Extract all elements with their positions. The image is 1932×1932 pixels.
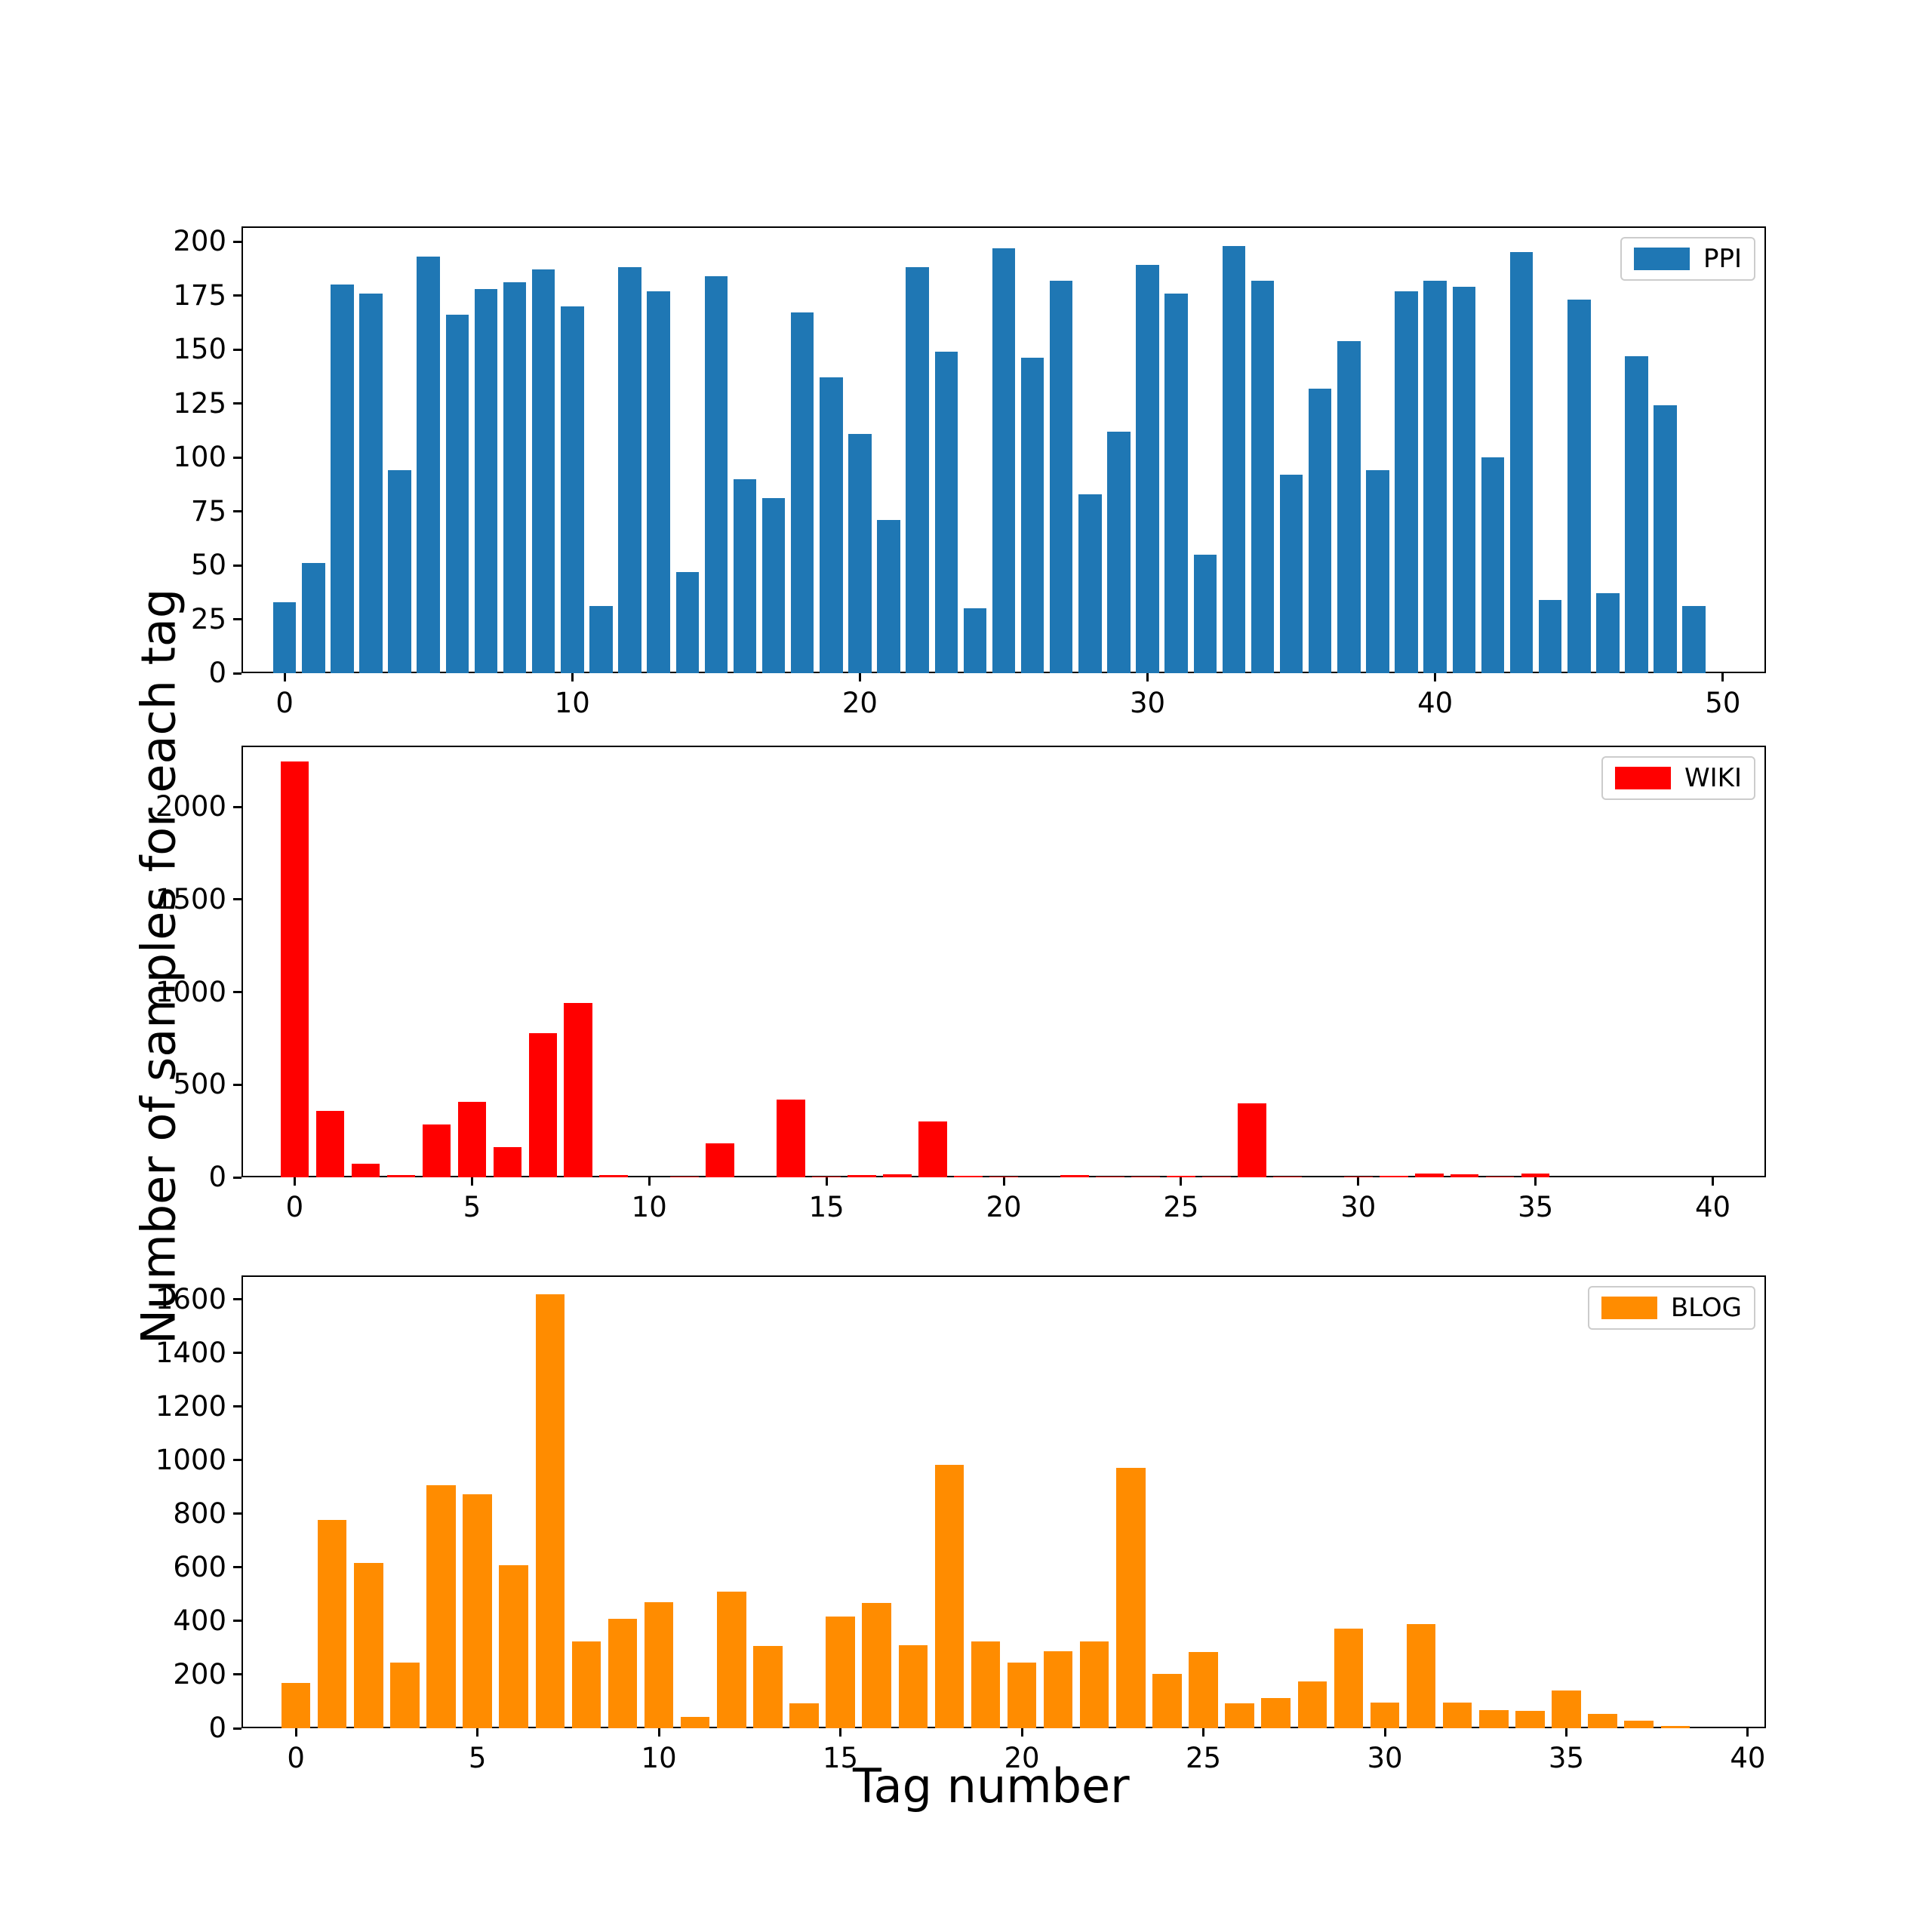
x-tick-line xyxy=(295,1728,297,1737)
legend-ppi[interactable]: PPI xyxy=(1620,237,1755,281)
x-tick-label: 10 xyxy=(614,1740,704,1777)
bar xyxy=(706,1143,734,1177)
y-tick-label: 1500 xyxy=(155,881,226,918)
panel-blog: 02004006008001000120014001600 0510152025… xyxy=(241,1275,1766,1728)
bar xyxy=(1060,1175,1089,1177)
y-tick-label: 1200 xyxy=(155,1389,226,1425)
bar xyxy=(935,352,958,673)
bar xyxy=(1552,1690,1580,1728)
y-tick-line xyxy=(233,1298,241,1300)
y-tick-label: 125 xyxy=(173,386,226,422)
bar xyxy=(1481,457,1504,673)
x-tick-label: 0 xyxy=(249,1189,340,1226)
x-tick-line xyxy=(1202,1728,1204,1737)
bar xyxy=(906,267,928,673)
bar xyxy=(1080,1641,1109,1728)
bar xyxy=(734,479,756,673)
bar xyxy=(331,285,353,673)
bar xyxy=(281,761,309,1177)
bar xyxy=(499,1565,528,1728)
x-tick-label: 0 xyxy=(239,685,330,721)
figure-xlabel: Tag number xyxy=(853,1758,1130,1814)
bar xyxy=(717,1592,746,1728)
bar xyxy=(1044,1651,1072,1728)
bar xyxy=(417,257,439,673)
x-tick-label: 40 xyxy=(1390,685,1481,721)
bar xyxy=(273,602,296,673)
bar xyxy=(1050,281,1072,674)
figure-canvas: Number of samples for each tag 025507510… xyxy=(0,0,1932,1932)
bar xyxy=(1515,1711,1544,1728)
bar xyxy=(1116,1468,1145,1728)
bar xyxy=(1021,358,1044,673)
x-tick-label: 30 xyxy=(1340,1740,1430,1777)
y-tick-line xyxy=(233,1620,241,1622)
bar xyxy=(645,1602,673,1728)
bar xyxy=(1202,1177,1231,1177)
y-tick-label: 200 xyxy=(173,223,226,260)
bar xyxy=(423,1124,451,1177)
y-tick-label: 200 xyxy=(173,1657,226,1693)
x-tick-line xyxy=(648,1177,651,1186)
bar xyxy=(1136,265,1158,673)
plot-area-blog xyxy=(241,1275,1766,1728)
bar xyxy=(964,608,986,673)
bar xyxy=(992,248,1015,673)
y-tick-line xyxy=(233,294,241,297)
bar xyxy=(618,267,641,673)
y-tick-label: 1400 xyxy=(155,1335,226,1371)
bar xyxy=(826,1617,854,1728)
x-tick-label: 40 xyxy=(1668,1189,1758,1226)
bar xyxy=(1152,1674,1181,1728)
x-tick-label: 25 xyxy=(1158,1740,1249,1777)
bar xyxy=(1107,432,1130,673)
bar xyxy=(359,294,382,673)
bar xyxy=(503,282,526,673)
bar xyxy=(1225,1703,1254,1728)
bar xyxy=(318,1520,346,1728)
bar xyxy=(1337,341,1360,673)
bar xyxy=(589,606,612,673)
y-tick-label: 500 xyxy=(173,1066,226,1103)
legend-blog[interactable]: BLOG xyxy=(1588,1286,1755,1330)
legend-swatch-ppi xyxy=(1634,248,1690,270)
legend-label-blog: BLOG xyxy=(1671,1295,1742,1321)
bar xyxy=(705,276,728,673)
bar xyxy=(1078,494,1101,673)
bar xyxy=(494,1147,522,1178)
x-tick-line xyxy=(471,1177,473,1186)
y-tick-line xyxy=(233,898,241,900)
bar xyxy=(681,1717,709,1728)
bar xyxy=(762,498,785,673)
bar xyxy=(789,1703,818,1728)
bar xyxy=(387,1175,416,1177)
y-tick-label: 175 xyxy=(173,278,226,314)
bar xyxy=(1395,291,1417,673)
bar xyxy=(1194,555,1217,673)
y-tick-line xyxy=(233,1727,241,1730)
y-tick-line xyxy=(233,1459,241,1461)
y-tick-label: 150 xyxy=(173,331,226,368)
panel-ppi: 0255075100125150175200 01020304050 PPI xyxy=(241,226,1766,673)
bar xyxy=(1131,1177,1160,1177)
x-tick-line xyxy=(1021,1728,1023,1737)
bar xyxy=(1380,1176,1408,1177)
bar xyxy=(1309,389,1331,674)
y-tick-label: 25 xyxy=(191,601,226,638)
bar xyxy=(316,1111,345,1177)
y-tick-line xyxy=(233,1084,241,1086)
bar xyxy=(1415,1174,1444,1177)
bar xyxy=(1273,1177,1302,1177)
bar xyxy=(954,1176,983,1177)
bar xyxy=(1407,1624,1435,1728)
y-tick-line xyxy=(233,510,241,512)
bar xyxy=(1486,1177,1515,1177)
y-tick-line xyxy=(233,241,241,243)
bar xyxy=(1596,593,1619,673)
legend-wiki[interactable]: WIKI xyxy=(1601,756,1755,800)
bar xyxy=(1280,475,1303,673)
x-tick-label: 20 xyxy=(814,685,905,721)
x-tick-line xyxy=(658,1728,660,1737)
x-tick-label: 15 xyxy=(781,1189,872,1226)
y-tick-label: 800 xyxy=(173,1496,226,1532)
x-tick-line xyxy=(1746,1728,1749,1737)
bar xyxy=(564,1003,592,1177)
bar xyxy=(753,1646,782,1728)
bar xyxy=(352,1164,380,1177)
bar xyxy=(1096,1177,1124,1177)
x-tick-line xyxy=(284,673,286,681)
bar xyxy=(572,1641,601,1728)
y-tick-line xyxy=(233,1566,241,1568)
bar xyxy=(918,1121,947,1177)
bar xyxy=(599,1175,628,1177)
bar xyxy=(475,289,497,673)
y-tick-label: 1000 xyxy=(155,974,226,1011)
y-tick-label: 100 xyxy=(173,439,226,475)
y-tick-label: 2000 xyxy=(155,789,226,825)
bar xyxy=(1510,252,1533,673)
x-tick-label: 30 xyxy=(1103,685,1193,721)
y-tick-line xyxy=(233,618,241,620)
x-tick-line xyxy=(1721,673,1724,681)
y-tick-line xyxy=(233,1352,241,1354)
y-tick-label: 0 xyxy=(208,655,226,691)
x-tick-line xyxy=(826,1177,828,1186)
bar xyxy=(1682,606,1705,673)
bar xyxy=(777,1100,805,1177)
bar xyxy=(1366,470,1389,673)
bar xyxy=(1479,1710,1508,1728)
bar xyxy=(1443,1703,1472,1728)
x-tick-line xyxy=(571,673,574,681)
bar xyxy=(1298,1681,1327,1728)
bar xyxy=(388,470,411,673)
x-tick-label: 40 xyxy=(1703,1740,1793,1777)
bar xyxy=(848,434,871,673)
x-tick-label: 20 xyxy=(958,1189,1049,1226)
y-tick-label: 0 xyxy=(208,1159,226,1195)
x-tick-line xyxy=(1712,1177,1714,1186)
y-tick-label: 1000 xyxy=(155,1442,226,1478)
x-tick-line xyxy=(1534,1177,1537,1186)
y-tick-label: 400 xyxy=(173,1603,226,1639)
x-tick-line xyxy=(1384,1728,1386,1737)
bar xyxy=(935,1465,964,1728)
x-tick-line xyxy=(1146,673,1149,681)
y-tick-line xyxy=(233,1405,241,1407)
y-tick-label: 0 xyxy=(208,1710,226,1746)
x-tick-label: 5 xyxy=(426,1189,517,1226)
bar xyxy=(536,1294,565,1728)
bar xyxy=(446,315,469,673)
y-tick-line xyxy=(233,349,241,351)
bar xyxy=(1423,281,1446,674)
bar xyxy=(354,1563,383,1728)
x-tick-line xyxy=(294,1177,296,1186)
bar xyxy=(1008,1663,1036,1728)
y-tick-line xyxy=(233,672,241,675)
bar xyxy=(458,1102,487,1177)
y-tick-line xyxy=(233,991,241,993)
y-tick-line xyxy=(233,565,241,567)
bar xyxy=(1451,1174,1479,1177)
plot-area-ppi xyxy=(241,226,1766,673)
bar xyxy=(1654,405,1676,673)
bar xyxy=(1567,300,1590,673)
y-tick-line xyxy=(233,457,241,459)
bar xyxy=(1539,600,1561,673)
bar xyxy=(1661,1726,1690,1728)
bar xyxy=(1238,1103,1266,1177)
x-tick-label: 25 xyxy=(1136,1189,1226,1226)
panel-wiki: 0500100015002000 0510152025303540 WIKI xyxy=(241,746,1766,1177)
bar xyxy=(1453,287,1475,673)
x-tick-line xyxy=(1565,1728,1567,1737)
bar xyxy=(302,563,325,673)
y-tick-line xyxy=(233,806,241,808)
x-tick-label: 50 xyxy=(1678,685,1768,721)
bar xyxy=(676,572,699,673)
bar xyxy=(463,1494,491,1728)
y-tick-label: 1600 xyxy=(155,1281,226,1318)
y-tick-line xyxy=(233,1512,241,1515)
x-tick-line xyxy=(839,1728,841,1737)
bar xyxy=(281,1683,310,1728)
x-tick-label: 30 xyxy=(1313,1189,1404,1226)
bar xyxy=(791,312,814,673)
bar xyxy=(1371,1703,1399,1728)
x-tick-label: 35 xyxy=(1521,1740,1611,1777)
y-tick-label: 75 xyxy=(191,494,226,530)
y-tick-line xyxy=(233,402,241,405)
y-tick-label: 600 xyxy=(173,1549,226,1586)
bar xyxy=(426,1485,455,1728)
bar xyxy=(1625,356,1647,673)
bar xyxy=(647,291,669,673)
bar xyxy=(390,1663,419,1728)
y-tick-label: 50 xyxy=(191,547,226,583)
legend-swatch-wiki xyxy=(1615,767,1671,789)
bar xyxy=(1189,1652,1217,1728)
y-tick-line xyxy=(233,1177,241,1179)
y-tick-line xyxy=(233,1673,241,1675)
bar xyxy=(1251,281,1274,674)
legend-label-ppi: PPI xyxy=(1703,246,1742,272)
bar xyxy=(862,1603,891,1728)
figure-ylabel: Number of samples for each tag xyxy=(131,588,186,1344)
bar xyxy=(1624,1721,1653,1728)
x-tick-line xyxy=(476,1728,478,1737)
plot-area-wiki xyxy=(241,746,1766,1177)
bar xyxy=(561,306,583,673)
x-tick-label: 35 xyxy=(1491,1189,1581,1226)
x-tick-label: 10 xyxy=(527,685,617,721)
x-tick-line xyxy=(1180,1177,1182,1186)
bar xyxy=(1334,1629,1363,1728)
bar xyxy=(1164,294,1187,673)
x-tick-line xyxy=(1003,1177,1005,1186)
x-tick-label: 0 xyxy=(251,1740,341,1777)
bar xyxy=(883,1174,912,1177)
bar xyxy=(848,1175,876,1177)
bar xyxy=(1223,246,1245,673)
bar xyxy=(877,520,900,673)
bar xyxy=(529,1033,558,1177)
x-tick-line xyxy=(1434,673,1436,681)
bar xyxy=(1588,1714,1617,1728)
bar xyxy=(532,269,555,673)
x-tick-label: 5 xyxy=(432,1740,523,1777)
bar xyxy=(1261,1698,1290,1728)
x-tick-line xyxy=(1357,1177,1359,1186)
bar xyxy=(820,377,842,673)
x-tick-line xyxy=(859,673,861,681)
x-tick-label: 10 xyxy=(604,1189,694,1226)
bar xyxy=(899,1645,928,1728)
bar xyxy=(971,1641,1000,1728)
legend-swatch-blog xyxy=(1601,1297,1657,1319)
legend-label-wiki: WIKI xyxy=(1684,765,1742,791)
bar xyxy=(670,1177,699,1177)
bar xyxy=(608,1619,637,1728)
